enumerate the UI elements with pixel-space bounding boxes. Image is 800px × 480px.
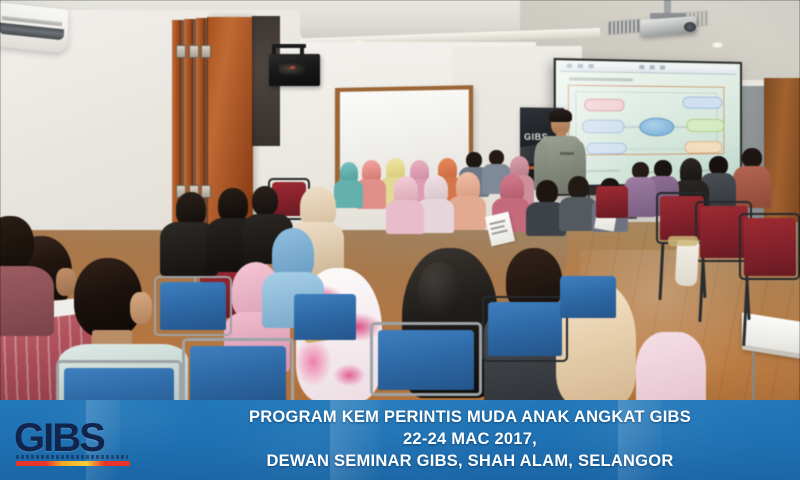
caption-banner: GIBS PROGRAM KEM PERINTIS MUDA ANAK ANGK… (0, 400, 800, 480)
draped-cloth (675, 239, 699, 286)
gibs-logo-tagline (16, 455, 128, 459)
slide-node (686, 119, 724, 132)
photo-screenshot: GIBS (0, 0, 800, 480)
banner-title-line-1: PROGRAM KEM PERINTIS MUDA ANAK ANGKAT GI… (150, 406, 790, 428)
gibs-logo-colorbar (16, 461, 130, 466)
banner-title-line-2: 22-24 MAC 2017, (150, 428, 790, 450)
banner-title-line-3: DEWAN SEMINAR GIBS, SHAH ALAM, SELANGOR (150, 450, 790, 472)
slide-node (682, 96, 722, 108)
draped-cloth-strap (668, 236, 698, 246)
slide-node (684, 141, 722, 153)
ceiling-downlight (712, 42, 723, 48)
gibs-logo: GIBS (14, 418, 136, 468)
gibs-logo-wordmark: GIBS (14, 418, 104, 458)
banner-title: PROGRAM KEM PERINTIS MUDA ANAK ANGKAT GI… (150, 406, 790, 472)
